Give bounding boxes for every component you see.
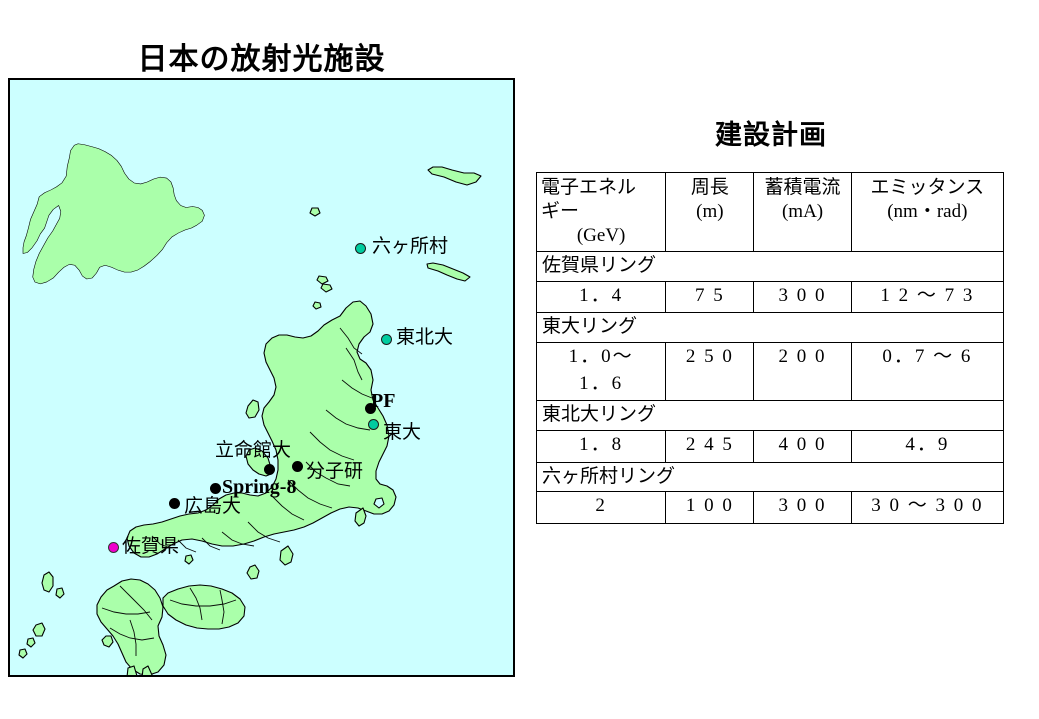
sado-island: [246, 400, 259, 418]
nemuro-peninsula: [427, 263, 470, 281]
kii-peninsula: [280, 546, 293, 565]
cell-emittance-rokkasho: 3 0 ～ 3 0 0: [851, 492, 1003, 524]
cell-current-rokkasho: 3 0 0: [754, 492, 851, 524]
cell-energy-tohoku: 1．8: [537, 430, 666, 462]
table-row: 2 1 0 0 3 0 0 3 0 ～ 3 0 0: [537, 492, 1004, 524]
label-tokyo-univ: 東大: [383, 423, 421, 442]
cell-current-saga: 3 0 0: [754, 281, 851, 313]
label-tohoku-univ: 東北大: [396, 328, 453, 347]
label-hiroshima-univ: 広島大: [184, 497, 241, 516]
label-ritsumeikan-univ: 立命館大: [215, 441, 291, 460]
hokkaido-islet-c: [321, 284, 332, 292]
cell-energy-tokyo: 1．0～ 1．6: [537, 343, 666, 401]
table-group-row: 六ヶ所村リング: [537, 462, 1004, 492]
cell-current-tohoku: 4 0 0: [754, 430, 851, 462]
table-group-row: 東大リング: [537, 313, 1004, 343]
hokkaido-islet-d: [313, 302, 321, 309]
plan-table-title: 建設計画: [538, 113, 1004, 152]
island-goto-1: [33, 623, 45, 636]
island-tsushima: [42, 572, 53, 592]
hokkaido-islet-b: [317, 276, 328, 284]
col-header-current: 蓄積電流 (mA): [754, 173, 851, 252]
shiretoko-peninsula: [428, 167, 481, 185]
island-shikoku: [163, 585, 245, 629]
table-row: 1．8 2 4 5 4 0 0 4．9: [537, 430, 1004, 462]
island-goto-2: [27, 638, 35, 647]
cell-circumference-saga: 7 5: [666, 281, 754, 313]
table-group-row: 東北大リング: [537, 401, 1004, 431]
island-oki: [185, 555, 193, 564]
table-group-row: 佐賀県リング: [537, 252, 1004, 282]
cell-energy-saga: 1．4: [537, 281, 666, 313]
col-header-circumference: 周長 (m): [666, 173, 754, 252]
group-label-saga: 佐賀県リング: [537, 252, 1004, 282]
marker-saga-pref[interactable]: [108, 542, 119, 553]
island-kyushu: [97, 579, 166, 675]
island-iki: [56, 588, 64, 598]
cell-circumference-rokkasho: 1 0 0: [666, 492, 754, 524]
marker-rokkasho[interactable]: [355, 243, 366, 254]
label-rokkasho: 六ヶ所村: [372, 237, 448, 256]
hokkaido-islet-a: [310, 208, 320, 216]
group-label-tohoku: 東北大リング: [537, 401, 1004, 431]
col-header-emittance: エミッタンス (nm・rad): [851, 173, 1003, 252]
table-row: 1．4 7 5 3 0 0 1 2 ～ 7 3: [537, 281, 1004, 313]
label-pf: PF: [371, 391, 395, 411]
island-amakusa: [102, 636, 113, 647]
marker-hiroshima-univ[interactable]: [169, 498, 180, 509]
island-goto-3: [19, 649, 27, 658]
label-saga-pref: 佐賀県: [122, 537, 179, 556]
marker-tohoku-univ[interactable]: [381, 334, 392, 345]
marker-spring8[interactable]: [210, 483, 221, 494]
izu-peninsula: [355, 508, 366, 526]
cell-emittance-tokyo: 0．7 ～ 6: [851, 343, 1003, 401]
japan-map-panel: 六ヶ所村 東北大 PF 東大 立命館大 分子研 Spring-8 広島大 佐賀県: [8, 78, 515, 677]
cell-circumference-tohoku: 2 4 5: [666, 430, 754, 462]
japan-map-graphic: [10, 80, 513, 675]
cell-emittance-saga: 1 2 ～ 7 3: [851, 281, 1003, 313]
group-label-rokkasho: 六ヶ所村リング: [537, 462, 1004, 492]
map-title: 日本の放射光施設: [8, 34, 515, 78]
table-header-row: 電子エネル ギー (GeV) 周長 (m) 蓄積電流 (mA) エミッタンス (…: [537, 173, 1004, 252]
marker-ritsumeikan-univ[interactable]: [264, 464, 275, 475]
cell-current-tokyo: 2 0 0: [754, 343, 851, 401]
label-ims: 分子研: [306, 462, 363, 481]
label-spring8: Spring-8: [222, 477, 296, 497]
cell-circumference-tokyo: 2 5 0: [666, 343, 754, 401]
marker-ims[interactable]: [292, 461, 303, 472]
table-row: 1．0～ 1．6 2 5 0 2 0 0 0．7 ～ 6: [537, 343, 1004, 401]
cell-energy-rokkasho: 2: [537, 492, 666, 524]
cell-emittance-tohoku: 4．9: [851, 430, 1003, 462]
construction-plan-table: 電子エネル ギー (GeV) 周長 (m) 蓄積電流 (mA) エミッタンス (…: [536, 172, 1004, 524]
col-header-energy: 電子エネル ギー (GeV): [537, 173, 666, 252]
island-awaji: [247, 565, 259, 579]
group-label-tokyo: 東大リング: [537, 313, 1004, 343]
island-hokkaido: [23, 144, 204, 284]
marker-tokyo-univ[interactable]: [368, 419, 379, 430]
